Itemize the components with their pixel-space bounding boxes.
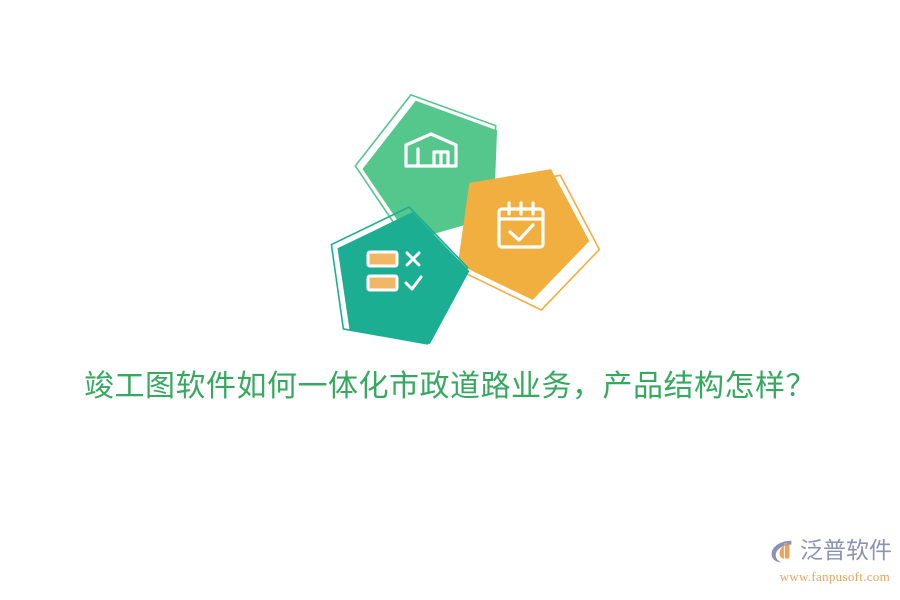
petal-teal — [320, 88, 600, 343]
fanpu-logo-icon — [767, 536, 797, 566]
brand-name: 泛普软件 — [800, 536, 892, 566]
pinwheel-pentagon-graphic — [320, 88, 600, 343]
page-canvas: 竣工图软件如何一体化市政道路业务，产品结构怎样？ 泛普软件 www.fanpus… — [0, 0, 900, 600]
brand-url: www.fanpusoft.com — [752, 568, 892, 585]
logo-row: 泛普软件 — [752, 534, 892, 568]
brand-watermark: 泛普软件 www.fanpusoft.com — [752, 534, 892, 592]
page-title: 竣工图软件如何一体化市政道路业务，产品结构怎样？ — [0, 366, 900, 408]
